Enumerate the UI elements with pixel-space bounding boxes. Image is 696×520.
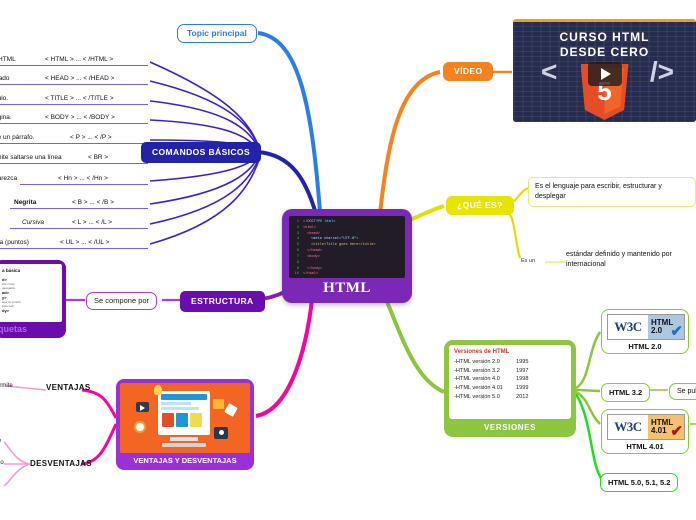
code-line-number: 10 xyxy=(292,272,303,278)
leaf-underline xyxy=(0,65,148,66)
leaf-tag: < Hn > ... < /Hn > xyxy=(58,175,108,182)
node-se-compone-por[interactable]: Se compone por xyxy=(86,292,157,310)
html-2-0-label: HTML 2.0 xyxy=(607,342,683,351)
leaf-desc: ágina. xyxy=(0,114,12,121)
versiones-row-name: -HTML versión 5.0 xyxy=(454,393,516,402)
ventajas-desventajas-label: VENTAJAS Y DESVENTAJAS xyxy=(120,453,250,466)
versiones-row-year: 1998 xyxy=(516,375,528,384)
check-icon: ✔ xyxy=(670,424,683,439)
estructura-label: ESTRUCTURA xyxy=(191,297,254,306)
node-estructura[interactable]: ESTRUCTURA xyxy=(180,291,265,312)
node-html-2-0[interactable]: W3C HTML 2.0 ✔ HTML 2.0 xyxy=(601,309,689,354)
video-label: VÍDEO xyxy=(454,67,482,76)
desventajas-note-text: ico xyxy=(0,460,4,466)
node-topic-principal[interactable]: Topic principal xyxy=(177,24,257,43)
node-desventajas-label[interactable]: DESVENTAJAS xyxy=(30,459,92,468)
etiquetas-image: a básica d> ición titulo navegador ad> y… xyxy=(0,264,62,322)
ventajas-label: VENTAJAS xyxy=(46,383,90,392)
versiones-row-year: 1995 xyxy=(516,358,528,367)
video-thumb-title-line1: CURSO HTML xyxy=(513,30,696,45)
desventajas-note: s. xyxy=(0,483,1,489)
node-versiones[interactable]: Versiones de HTML -HTML versión 2.01995 … xyxy=(444,340,576,437)
versiones-row-name: -HTML versión 2.0 xyxy=(454,358,516,367)
node-comandos-basicos[interactable]: COMANDOS BÁSICOS xyxy=(141,142,261,163)
html-code-snippet: 1<!DOCTYPE html> 2<html> 3<head> 4<meta … xyxy=(289,216,405,278)
html-4-01-label: HTML 4.01 xyxy=(607,442,683,451)
leaf-tag: < TITLE > ... < /TITLE > xyxy=(45,95,114,102)
w3c-badge-html-2-0: W3C HTML 2.0 ✔ xyxy=(607,314,685,340)
center-title: HTML xyxy=(289,278,405,301)
leaf-underline xyxy=(20,184,148,185)
leaf-desc: de un párrafo. xyxy=(0,134,34,141)
es-un-label: Es un xyxy=(521,258,535,264)
node-que-es[interactable]: ¿QUÉ ES? xyxy=(446,196,514,215)
leaf-desc: Negrita xyxy=(14,199,36,206)
versiones-row-name: -HTML versión 4.01 xyxy=(454,384,516,393)
versiones-row-year: 1997 xyxy=(516,367,528,376)
leaf-underline xyxy=(0,248,148,249)
versiones-card-title: Versiones de HTML xyxy=(454,349,566,355)
ventajas-note-text: ermite xyxy=(0,383,13,389)
leaf-desc: parezca xyxy=(0,175,17,182)
versiones-row: -HTML versión 4.01998 xyxy=(454,375,566,384)
etiquetas-img-title: a básica xyxy=(2,268,58,273)
leaf-tag: < P > ... < /P > xyxy=(70,134,112,141)
leaf-underline xyxy=(0,123,148,124)
ventajas-left-note: ermite xyxy=(0,383,13,389)
versiones-label: VERSIONES xyxy=(449,419,571,435)
que-es-item-1-text: Es el lenguaje para escribir, estructura… xyxy=(535,183,662,200)
desventajas-note-text: s. xyxy=(0,483,1,489)
leaf-tag: < HEAD > ... < /HEAD > xyxy=(45,75,114,82)
desventajas-note: ico xyxy=(0,460,4,466)
html-3-2-label: HTML 3.2 xyxy=(609,388,642,397)
html-3-2-note-label: Se pub xyxy=(677,388,696,395)
versiones-row-year: 2012 xyxy=(516,393,528,402)
video-thumbnail[interactable]: CURSO HTML DESDE CERO < /> 5 xyxy=(513,19,696,122)
leaf-tag: < UL > ... < /UL > xyxy=(60,239,109,246)
check-icon: ✔ xyxy=(670,324,683,339)
node-center-html[interactable]: 1<!DOCTYPE html> 2<html> 3<head> 4<meta … xyxy=(282,209,412,303)
node-html-3-2-note[interactable]: Se pub xyxy=(669,383,696,400)
w3c-logo-text: W3C xyxy=(608,315,648,339)
leaf-desc: izado xyxy=(0,75,10,82)
desventajas-note: to xyxy=(0,438,1,444)
mindmap-canvas: HTML < HTML > ... < /HTML > izado < HEAD… xyxy=(0,0,696,520)
angle-bracket-left-icon: < xyxy=(541,56,557,88)
html-5x-label: HTML 5.0, 5.1, 5.2 xyxy=(608,478,670,487)
topic-principal-label: Topic principal xyxy=(187,29,247,38)
leaf-underline xyxy=(0,143,148,144)
code-line-text: </html> xyxy=(303,272,318,278)
leaf-tag: < HTML > ... < /HTML > xyxy=(45,56,113,63)
se-compone-por-label: Se compone por xyxy=(94,297,149,305)
node-etiquetas[interactable]: a básica d> ición titulo navegador ad> y… xyxy=(0,260,66,338)
etiquetas-label: quetas xyxy=(0,322,62,334)
versiones-row-name: -HTML versión 4.0 xyxy=(454,375,516,384)
leaf-underline xyxy=(0,84,148,85)
w3c-badge-html-4-01: W3C HTML 4.01 ✔ xyxy=(607,414,685,440)
que-es-item-2[interactable]: estándar definido y mantenido por intern… xyxy=(566,250,696,270)
play-button[interactable] xyxy=(588,62,622,86)
leaf-tag: < BR > xyxy=(88,154,108,161)
versiones-row: -HTML versión 5.02012 xyxy=(454,393,566,402)
versiones-row-name: -HTML versión 3.2 xyxy=(454,367,516,376)
leaf-desc: da (puntos) xyxy=(0,239,29,246)
desventajas-label: DESVENTAJAS xyxy=(30,459,92,468)
leaf-desc: ítulo. xyxy=(0,95,8,102)
versiones-row-year: 1999 xyxy=(516,384,528,393)
leaf-underline xyxy=(0,104,148,105)
que-es-item-2-text: estándar definido y mantenido por intern… xyxy=(566,251,672,268)
que-es-connector-es-un: Es un xyxy=(521,258,535,264)
play-triangle-icon xyxy=(601,68,611,80)
comandos-basicos-label: COMANDOS BÁSICOS xyxy=(152,148,250,157)
leaf-tag: < L > ... < /L > xyxy=(72,219,112,226)
leaf-tag: < BODY > ... < /BODY > xyxy=(45,114,115,121)
node-html-3-2[interactable]: HTML 3.2 xyxy=(601,383,650,402)
node-ventajas-desventajas-card[interactable]: VENTAJAS Y DESVENTAJAS xyxy=(116,379,254,470)
code-line-text: <body> xyxy=(303,255,320,261)
versiones-image: Versiones de HTML -HTML versión 2.01995 … xyxy=(449,345,571,419)
versiones-row: -HTML versión 4.011999 xyxy=(454,384,566,393)
w3c-badge-version: HTML 4.01 ✔ xyxy=(648,415,684,439)
desventajas-note-text: to xyxy=(0,438,1,444)
node-html-4-01[interactable]: W3C HTML 4.01 ✔ HTML 4.01 xyxy=(601,409,689,454)
node-html-5x[interactable]: HTML 5.0, 5.1, 5.2 xyxy=(600,473,678,492)
que-es-item-1[interactable]: Es el lenguaje para escribir, estructura… xyxy=(528,177,696,207)
leaf-underline xyxy=(10,228,148,229)
ventajas-image xyxy=(120,383,250,453)
leaf-tag: < B > ... < /B > xyxy=(72,199,114,206)
leaf-desc: Cursiva xyxy=(22,219,44,226)
leaf-underline xyxy=(0,163,148,164)
node-video[interactable]: VÍDEO xyxy=(443,62,493,81)
w3c-logo-text: W3C xyxy=(608,415,648,439)
node-ventajas-label[interactable]: VENTAJAS xyxy=(46,383,90,392)
leaf-desc: HTML xyxy=(0,56,16,63)
leaf-underline xyxy=(10,208,148,209)
leaf-desc: rmite saltarse una línea xyxy=(0,154,62,161)
que-es-label: ¿QUÉ ES? xyxy=(457,201,503,210)
versiones-row: -HTML versión 3.21997 xyxy=(454,367,566,376)
w3c-badge-version: HTML 2.0 ✔ xyxy=(648,315,684,339)
etiquetas-code-line: dy> xyxy=(2,308,58,313)
angle-bracket-right-icon: /> xyxy=(650,56,674,88)
versiones-row: -HTML versión 2.01995 xyxy=(454,358,566,367)
